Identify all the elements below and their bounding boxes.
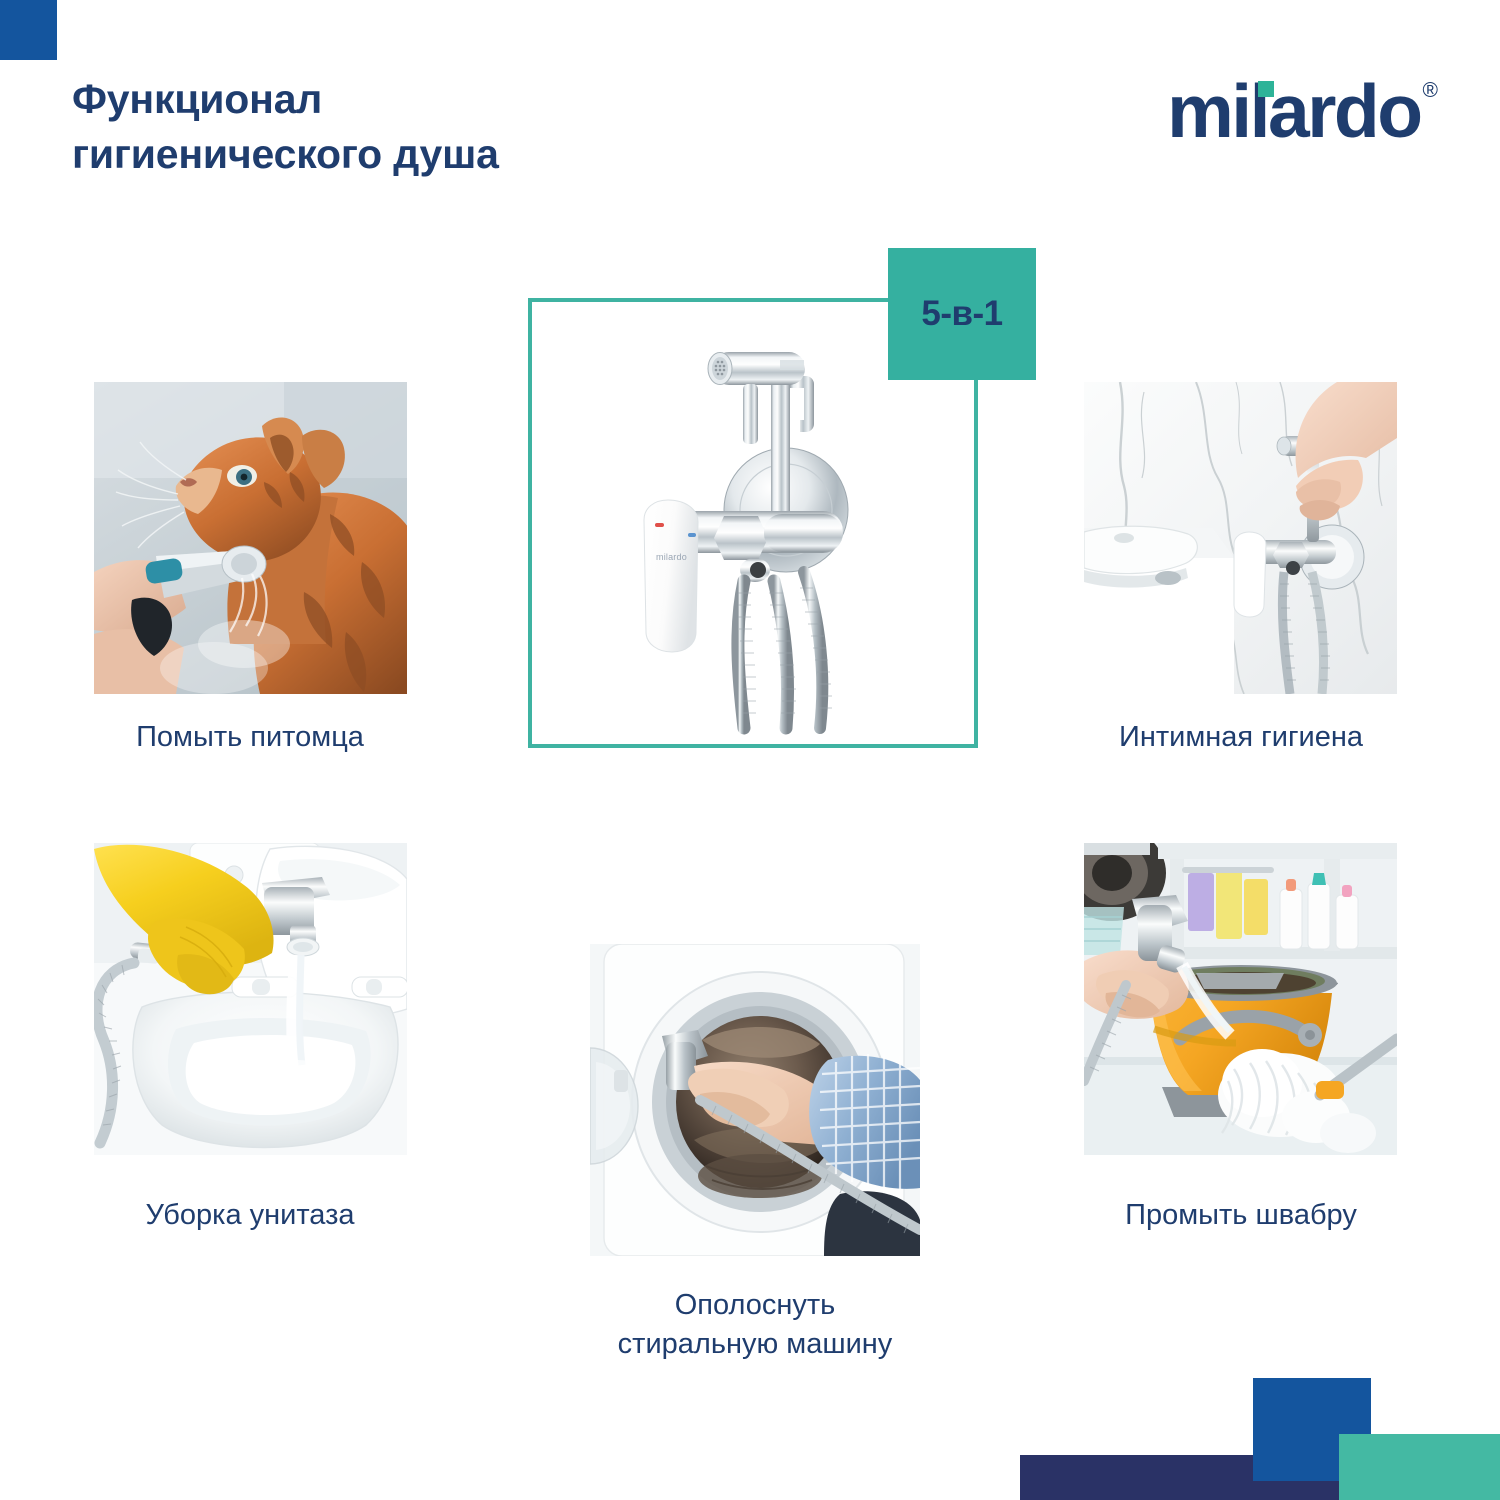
caption-toilet: Уборка унитаза [20,1196,480,1235]
caption-mop: Промыть швабру [1011,1196,1471,1235]
photo-washing-machine-rinse [590,944,920,1256]
photo-pet-washing [94,382,407,694]
brand-logo: milardo ® [1167,74,1438,149]
card-hygiene [1084,382,1397,694]
photo-intimate-hygiene [1084,382,1397,694]
brand-wordmark: milardo [1167,74,1420,149]
svg-text:milardo: milardo [656,552,687,562]
card-washer [590,944,920,1256]
page-title: Функционал гигиенического душа [72,72,712,182]
caption-washer: Ополоснуть стиральную машину [525,1286,985,1363]
caption-hygiene: Интимная гигиена [1011,718,1471,757]
card-mop [1084,843,1397,1155]
caption-pet: Помыть питомца [20,718,480,757]
photo-toilet-cleaning [94,843,407,1155]
corner-accent-teal-square [1339,1434,1500,1500]
badge-5-in-1: 5-в-1 [888,248,1036,380]
corner-accent-top-left [0,0,57,60]
photo-mop-rinsing [1084,843,1397,1155]
card-toilet [94,843,407,1155]
infographic-page: Функционал гигиенического душа milardo ® [0,0,1500,1500]
logo-i-dot-square [1258,81,1274,97]
card-pet [94,382,407,694]
registered-trademark-symbol: ® [1423,80,1438,101]
